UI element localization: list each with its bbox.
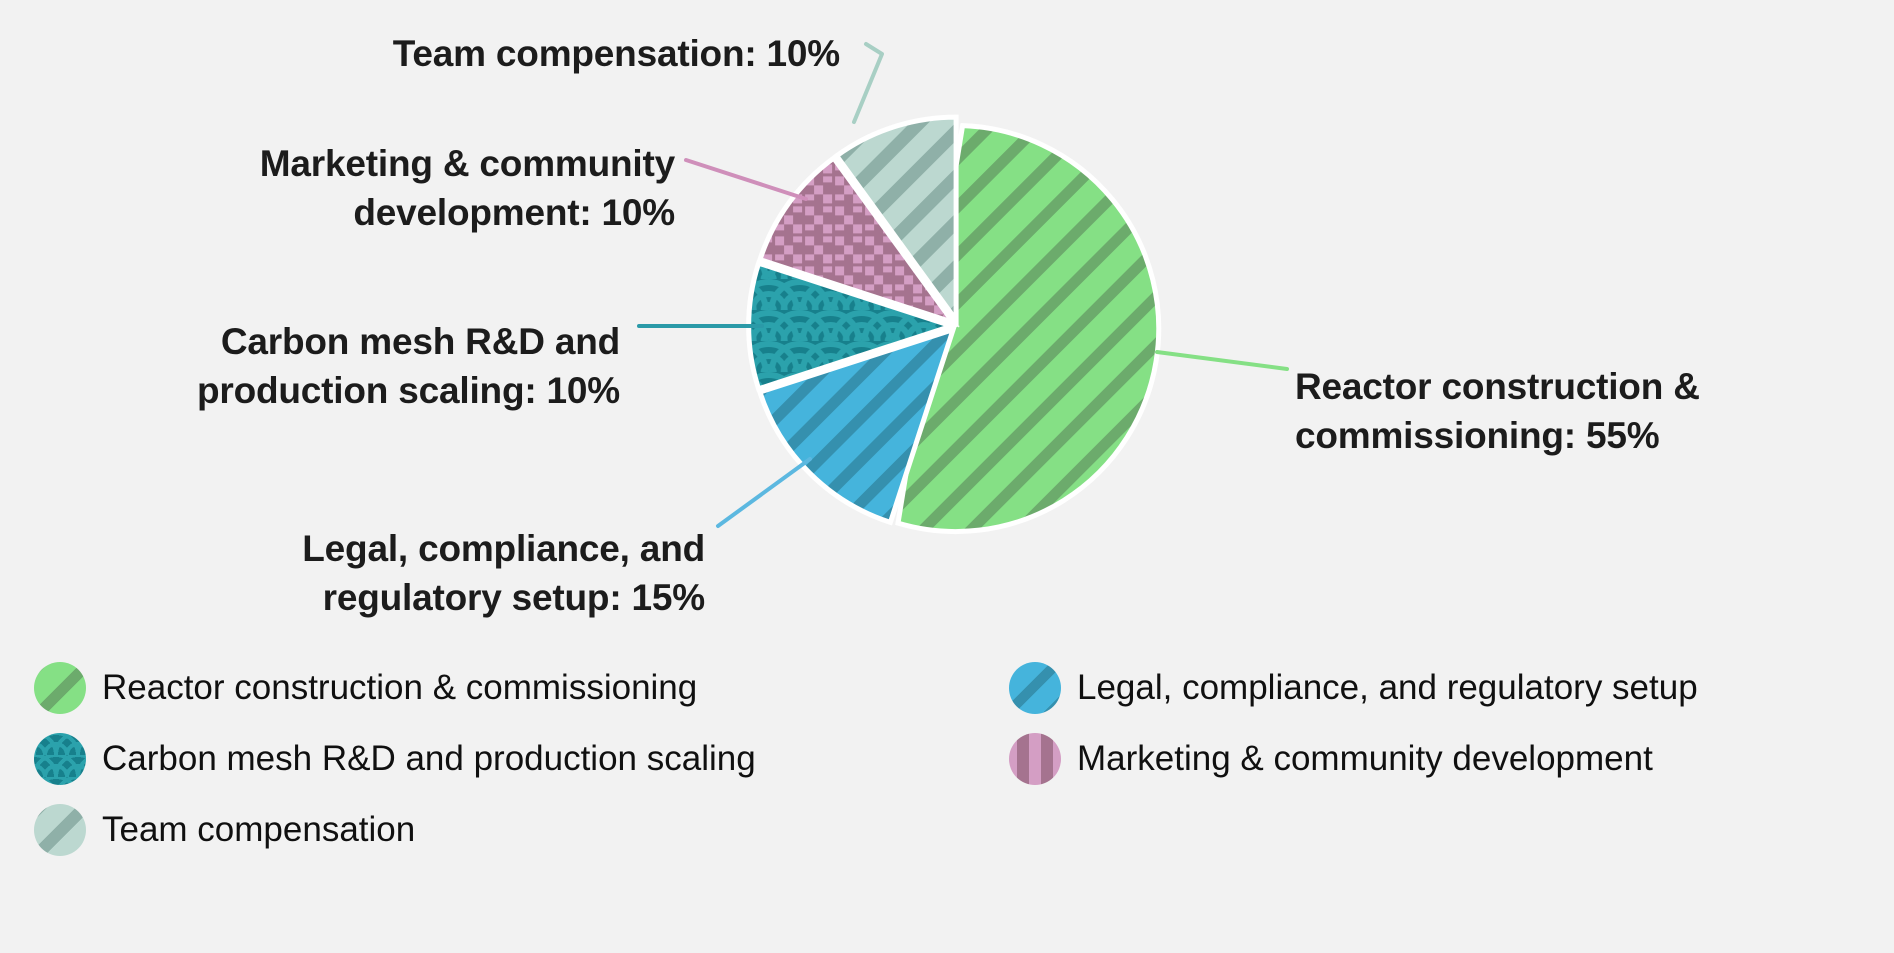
leader-line-legal — [718, 459, 810, 526]
leader-line-reactor — [1157, 352, 1287, 369]
callout-label-marketing-community: Marketing & community development: 10% — [60, 140, 675, 238]
legend-swatch-icon — [1009, 662, 1061, 714]
legend-label: Marketing & community development — [1077, 741, 1653, 776]
legend-swatch-icon — [34, 733, 86, 785]
legend-item-team-compensation[interactable]: Team compensation — [34, 804, 1009, 856]
chart-legend: Reactor construction & commissioning Leg… — [34, 652, 1874, 865]
pie-chart-figure: Team compensation: 10% Marketing & commu… — [0, 0, 1894, 953]
legend-label: Reactor construction & commissioning — [102, 670, 697, 705]
legend-swatch-icon — [34, 662, 86, 714]
callout-label-legal-compliance: Legal, compliance, and regulatory setup:… — [60, 525, 705, 623]
leader-line-marketing — [686, 160, 806, 199]
legend-swatch-icon — [1009, 733, 1061, 785]
legend-label: Legal, compliance, and regulatory setup — [1077, 670, 1698, 705]
legend-item-legal-compliance[interactable]: Legal, compliance, and regulatory setup — [1009, 662, 1894, 714]
legend-label: Carbon mesh R&D and production scaling — [102, 741, 756, 776]
legend-swatch-icon — [34, 804, 86, 856]
legend-item-carbon-mesh[interactable]: Carbon mesh R&D and production scaling — [34, 733, 1009, 785]
callout-label-carbon-mesh: Carbon mesh R&D and production scaling: … — [20, 318, 620, 416]
leader-line-team-compensation — [854, 44, 882, 122]
callout-label-team-compensation: Team compensation: 10% — [120, 30, 840, 79]
callout-label-reactor-construction: Reactor construction & commissioning: 55… — [1295, 363, 1855, 461]
legend-item-marketing-community[interactable]: Marketing & community development — [1009, 733, 1894, 785]
legend-label: Team compensation — [102, 812, 415, 847]
legend-item-reactor-construction[interactable]: Reactor construction & commissioning — [34, 662, 1009, 714]
